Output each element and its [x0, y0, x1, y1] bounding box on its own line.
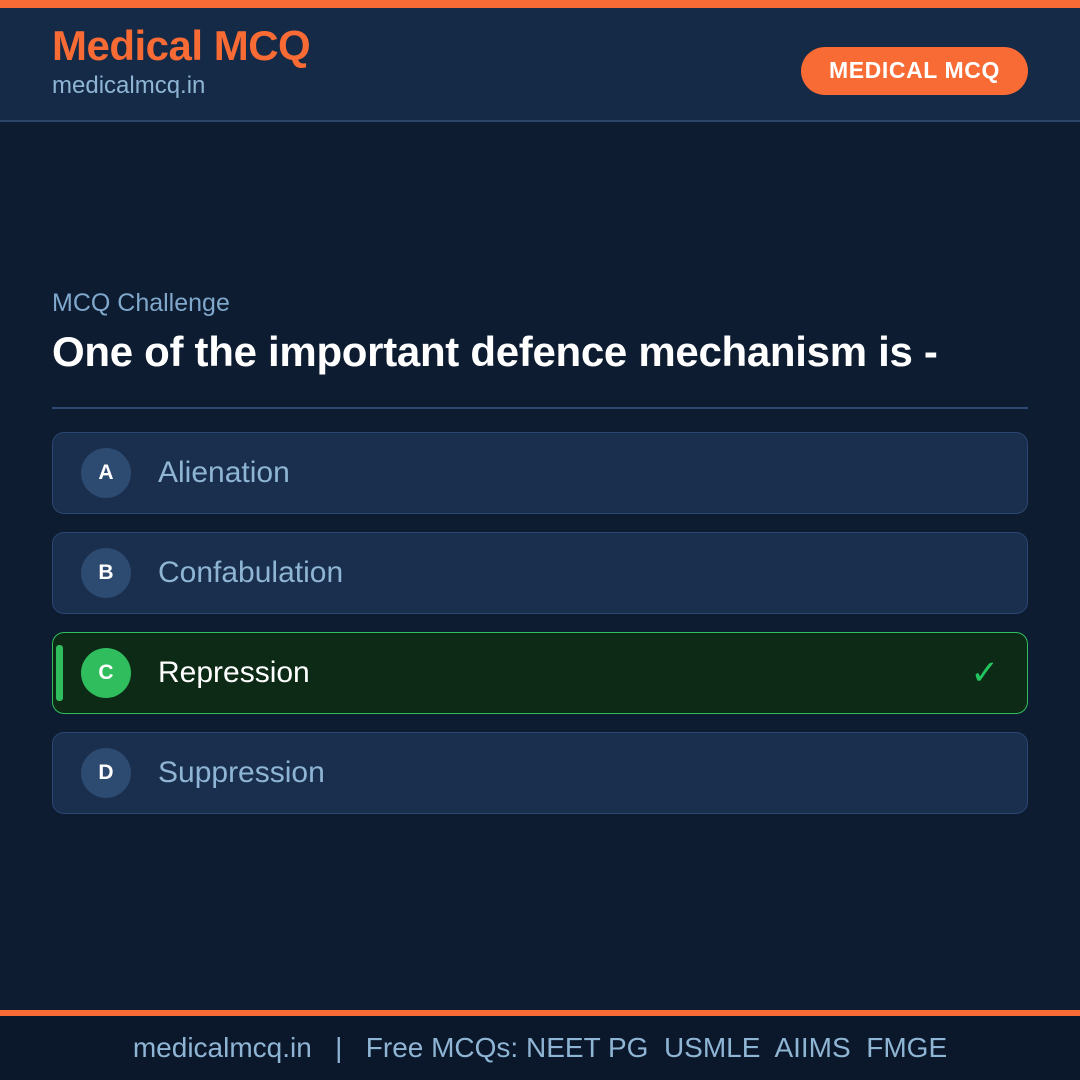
option-row-c[interactable]: C Repression ✓ — [52, 632, 1028, 714]
options-list: A Alienation ✓ B Confabulation ✓ C Repre… — [52, 432, 1028, 814]
brand-title: Medical MCQ — [52, 22, 310, 69]
header-badge: MEDICAL MCQ — [801, 47, 1028, 95]
option-label-b: Confabulation — [158, 558, 343, 588]
footer-text: medicalmcq.in | Free MCQs: NEET PG USMLE… — [133, 1034, 947, 1062]
question-text: One of the important defence mechanism i… — [52, 326, 952, 379]
top-accent-bar — [0, 0, 1080, 8]
question-panel: MCQ Challenge One of the important defen… — [52, 288, 1028, 814]
option-label-c: Repression — [158, 658, 310, 688]
option-row-b[interactable]: B Confabulation ✓ — [52, 532, 1028, 614]
option-label-a: Alienation — [158, 458, 290, 488]
correct-accent-bar — [56, 645, 63, 701]
option-badge-c: C — [81, 648, 131, 698]
brand: Medical MCQ medicalmcq.in — [52, 22, 310, 101]
page-header: Medical MCQ medicalmcq.in MEDICAL MCQ — [0, 8, 1080, 122]
option-badge-d: D — [81, 748, 131, 798]
brand-url: medicalmcq.in — [52, 71, 310, 101]
option-badge-b: B — [81, 548, 131, 598]
check-icon: ✓ — [971, 656, 1000, 690]
option-row-d[interactable]: D Suppression ✓ — [52, 732, 1028, 814]
option-label-d: Suppression — [158, 758, 325, 788]
page-footer: medicalmcq.in | Free MCQs: NEET PG USMLE… — [0, 1016, 1080, 1080]
question-divider — [52, 407, 1028, 409]
option-row-a[interactable]: A Alienation ✓ — [52, 432, 1028, 514]
eyebrow-label: MCQ Challenge — [52, 288, 1028, 318]
option-badge-a: A — [81, 448, 131, 498]
